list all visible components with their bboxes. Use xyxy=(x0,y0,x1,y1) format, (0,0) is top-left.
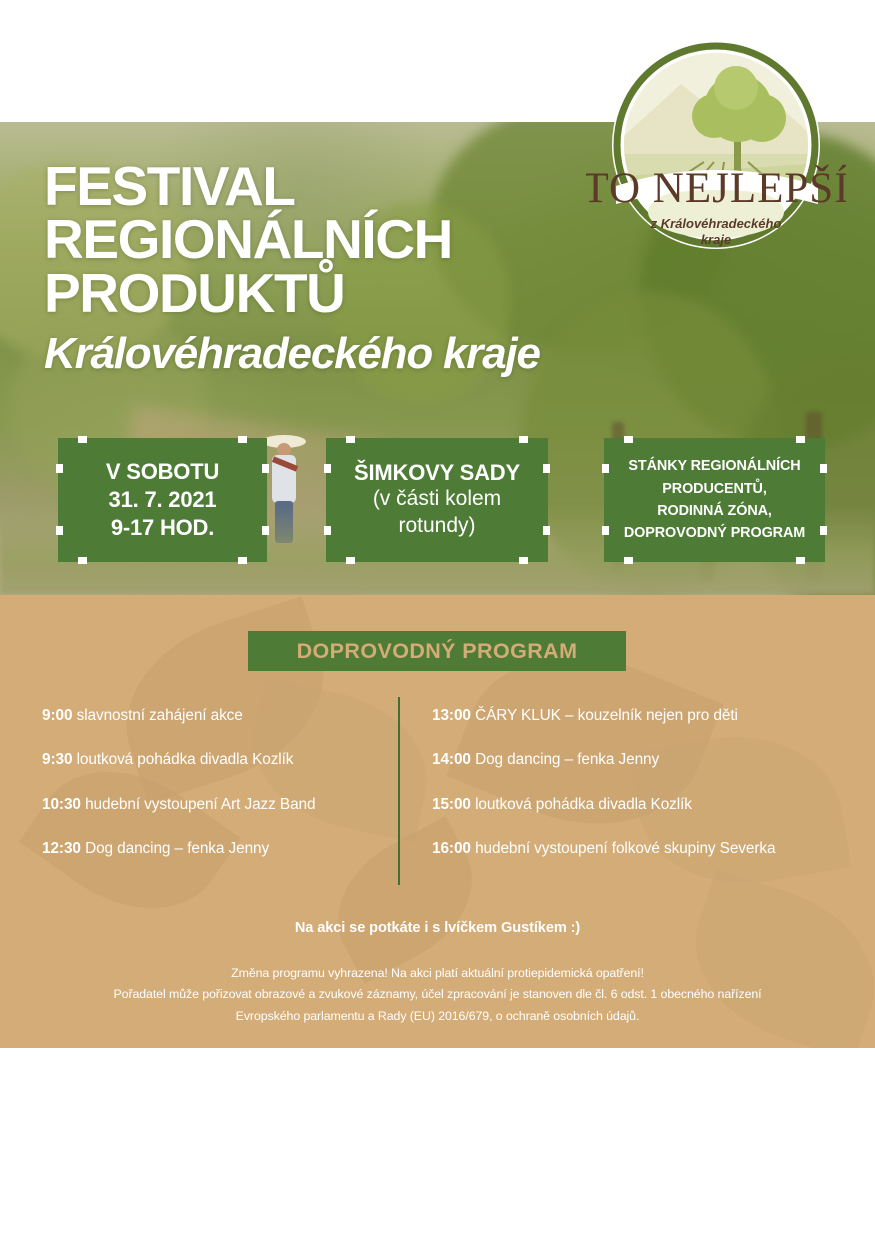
title-line-2: REGIONÁLNÍCH xyxy=(44,213,540,266)
title-subtitle: Královéhradeckého kraje xyxy=(44,332,540,376)
program-left-column: 9:00 slavnostní zahájení akce 9:30 loutk… xyxy=(42,707,392,885)
program-item-desc: ČÁRY KLUK – kouzelník nejen pro děti xyxy=(475,707,738,724)
program-column-divider xyxy=(398,697,400,885)
features-box: STÁNKY REGIONÁLNÍCH PRODUCENTŮ, RODINNÁ … xyxy=(604,438,825,562)
program-item-desc: hudební vystoupení folkové skupiny Sever… xyxy=(475,840,775,857)
program-item-time: 9:30 xyxy=(42,751,72,768)
program-item-time: 9:00 xyxy=(42,707,72,724)
program-item-time: 10:30 xyxy=(42,796,81,813)
program-item-desc: Dog dancing – fenka Jenny xyxy=(85,840,269,857)
title-line-1: FESTIVAL xyxy=(44,160,540,213)
features-box-line-2: PRODUCENTŮ, xyxy=(614,478,815,500)
program-item-time: 13:00 xyxy=(432,707,471,724)
program-item: 16:00 hudební vystoupení folkové skupiny… xyxy=(432,840,852,858)
features-box-line-1: STÁNKY REGIONÁLNÍCH xyxy=(614,455,815,477)
program-item-desc: slavnostní zahájení akce xyxy=(77,707,243,724)
program-item-desc: loutková pohádka divadla Kozlík xyxy=(475,796,692,813)
disclaimer-line-1: Změna programu vyhrazena! Na akci platí … xyxy=(0,963,875,984)
program-item: 10:30 hudební vystoupení Art Jazz Band xyxy=(42,796,392,814)
to-nejlepsi-logo: TO NEJLEPŠÍ z Královéhradeckého kraje xyxy=(586,36,846,254)
place-box: ŠIMKOVY SADY (v části kolem rotundy) xyxy=(326,438,548,562)
program-right-column: 13:00 ČÁRY KLUK – kouzelník nejen pro dě… xyxy=(432,707,852,885)
brand-name: TO NEJLEPŠÍ xyxy=(586,165,846,212)
meet-note: Na akci se potkáte i s lvíčkem Gustíkem … xyxy=(0,920,875,936)
features-box-line-4: DOPROVODNÝ PROGRAM xyxy=(614,522,815,544)
disclaimer-text: Změna programu vyhrazena! Na akci platí … xyxy=(0,963,875,1027)
poster-title: FESTIVAL REGIONÁLNÍCH PRODUKTŮ Královéhr… xyxy=(44,160,540,376)
date-box-line-2: 31. 7. 2021 xyxy=(68,486,257,514)
program-heading-label: DOPROVODNÝ PROGRAM xyxy=(297,639,578,664)
program-item-desc: hudební vystoupení Art Jazz Band xyxy=(85,796,315,813)
program-item-desc: loutková pohádka divadla Kozlík xyxy=(77,751,294,768)
program-item: 9:00 slavnostní zahájení akce xyxy=(42,707,392,725)
program-heading: DOPROVODNÝ PROGRAM xyxy=(248,631,626,671)
brand-tagline-2: kraje xyxy=(701,232,731,247)
title-line-3: PRODUKTŮ xyxy=(44,267,540,320)
program-item: 12:30 Dog dancing – fenka Jenny xyxy=(42,840,392,858)
poster-root: Královéhradecký kraj ve spolupráci s Kra… xyxy=(0,0,875,1241)
date-box-line-3: 9-17 HOD. xyxy=(68,514,257,542)
program-item-time: 12:30 xyxy=(42,840,81,857)
program-item: 15:00 loutková pohádka divadla Kozlík xyxy=(432,796,852,814)
place-box-detail-2: rotundy) xyxy=(336,513,538,540)
program-item-time: 15:00 xyxy=(432,796,471,813)
features-box-line-3: RODINNÁ ZÓNA, xyxy=(614,500,815,522)
date-box: V SOBOTU 31. 7. 2021 9-17 HOD. xyxy=(58,438,267,562)
disclaimer-line-2: Pořadatel může pořizovat obrazové a zvuk… xyxy=(0,984,875,1005)
program-item-desc: Dog dancing – fenka Jenny xyxy=(475,751,659,768)
info-boxes: V SOBOTU 31. 7. 2021 9-17 HOD. ŠIMKOVY S… xyxy=(0,438,875,566)
program-item-time: 16:00 xyxy=(432,840,471,857)
brand-tagline-1: z Královéhradeckého xyxy=(650,216,782,231)
partner-logo-footer: KRÁLOVÉHRADECKÝ KRAJ xyxy=(0,1048,875,1241)
program-item: 13:00 ČÁRY KLUK – kouzelník nejen pro dě… xyxy=(432,707,852,725)
date-box-line-1: V SOBOTU xyxy=(68,458,257,486)
place-box-name: ŠIMKOVY SADY xyxy=(336,460,538,486)
place-box-detail-1: (v části kolem xyxy=(336,486,538,513)
disclaimer-line-3: Evropského parlamentu a Rady (EU) 2016/6… xyxy=(0,1006,875,1027)
program-item: 14:00 Dog dancing – fenka Jenny xyxy=(432,751,852,769)
program-item-time: 14:00 xyxy=(432,751,471,768)
program-item: 9:30 loutková pohádka divadla Kozlík xyxy=(42,751,392,769)
